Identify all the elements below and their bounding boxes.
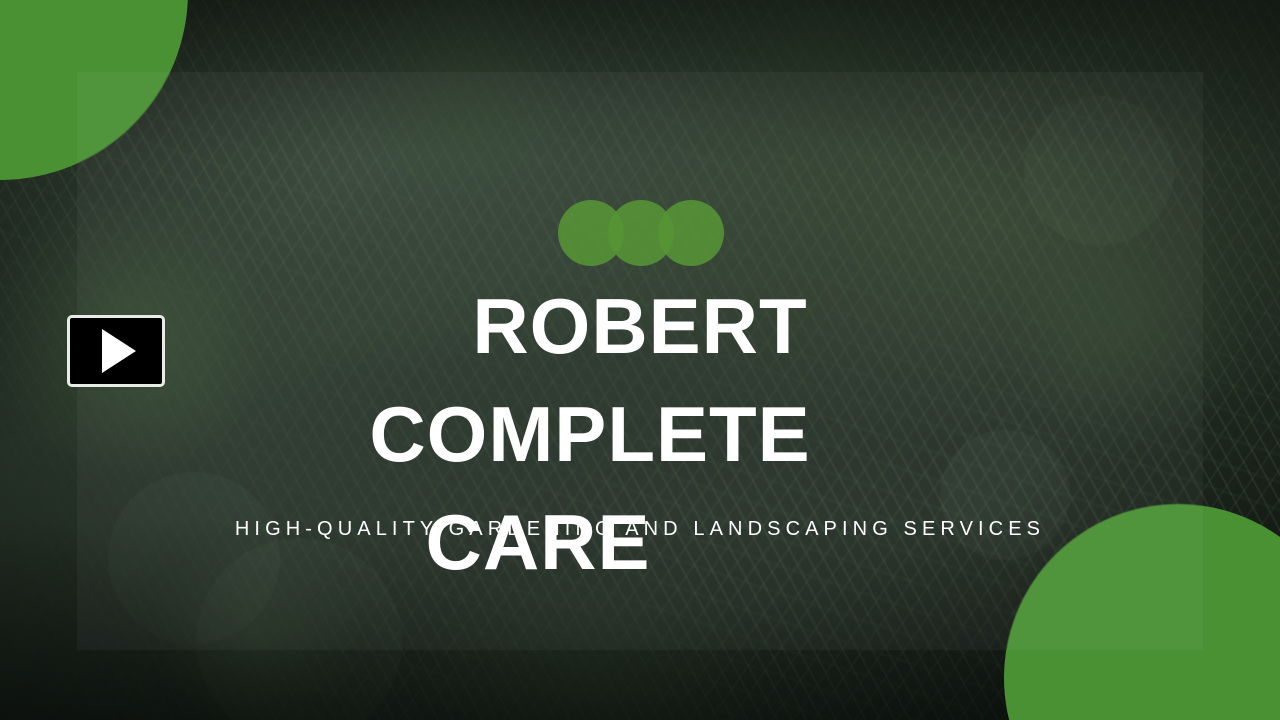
play-triangle-icon [102, 329, 136, 373]
content-overlay-panel [77, 72, 1203, 650]
page-subtitle: HIGH-QUALITY GARDENING AND LANDSCAPING S… [0, 518, 1280, 541]
presentation-slide: ROBERT COMPLETE CARE HIGH-QUALITY GARDEN… [0, 0, 1280, 720]
video-play-button[interactable] [67, 315, 165, 387]
brand-logo [558, 200, 724, 266]
logo-circle-3 [658, 200, 724, 266]
